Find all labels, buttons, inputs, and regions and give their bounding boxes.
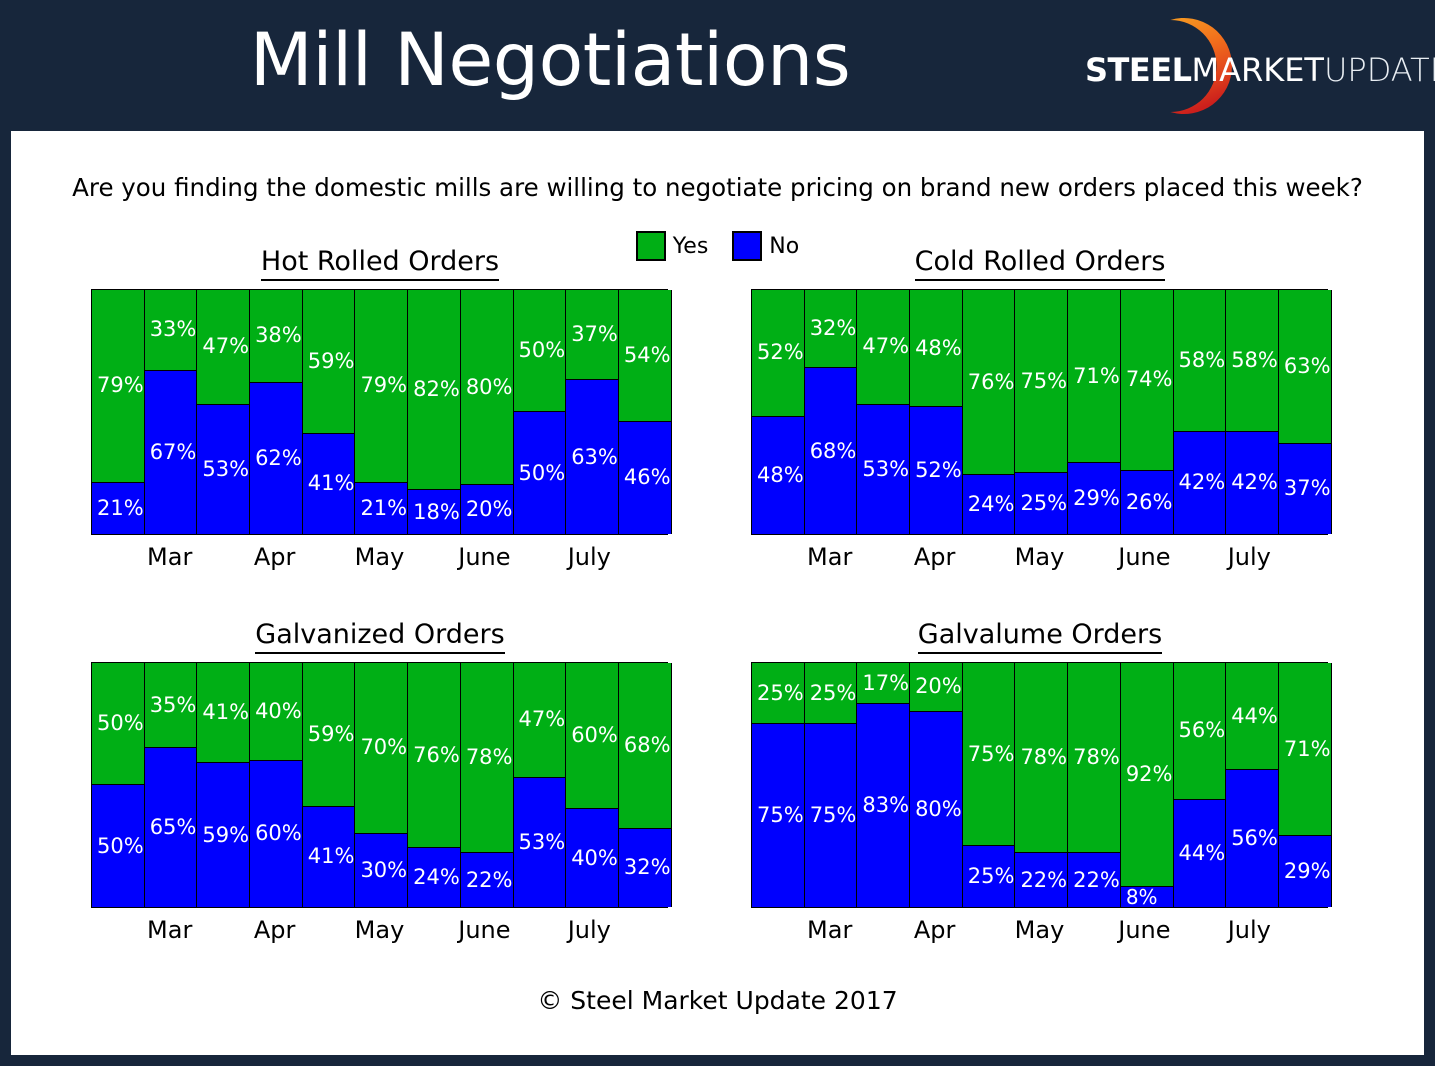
bar-segment-no: 75% xyxy=(805,724,857,907)
survey-question: Are you finding the domestic mills are w… xyxy=(11,173,1424,202)
stacked-bar: 33%67% xyxy=(144,290,198,534)
copyright-footer: © Steel Market Update 2017 xyxy=(11,986,1424,1015)
x-axis-tick-label: May xyxy=(1013,538,1065,578)
bar-value-label-yes: 54% xyxy=(619,345,671,366)
x-axis-tick-label xyxy=(406,538,458,578)
bar-segment-yes: 80% xyxy=(461,290,513,485)
x-axis-tick-label xyxy=(196,538,248,578)
stacked-bar: 35%65% xyxy=(144,663,198,907)
bar-value-label-yes: 20% xyxy=(910,676,962,697)
chart-galvalume-orders: Galvalume Orders 25%75%25%75%17%83%20%80… xyxy=(730,619,1350,919)
stacked-bar: 50%50% xyxy=(91,663,145,907)
x-axis-tick-label xyxy=(1276,538,1328,578)
bar-value-label-no: 37% xyxy=(1279,478,1331,499)
bar-segment-yes: 68% xyxy=(619,663,671,829)
bar-value-label-yes: 47% xyxy=(197,336,249,357)
bar-segment-no: 29% xyxy=(1068,463,1120,534)
stacked-bar: 68%32% xyxy=(618,663,672,907)
x-axis-tick-label xyxy=(1171,911,1223,951)
bar-value-label-no: 22% xyxy=(1015,870,1067,891)
x-axis-tick-label xyxy=(751,911,803,951)
x-axis-tick-label xyxy=(856,911,908,951)
chart-galvanized-orders: Galvanized Orders 50%50%35%65%41%59%40%6… xyxy=(70,619,690,919)
x-axis-tick-label xyxy=(751,538,803,578)
bar-value-label-yes: 59% xyxy=(303,724,355,745)
stacked-bar: 20%80% xyxy=(909,663,963,907)
stacked-bar: 58%42% xyxy=(1225,290,1279,534)
bar-segment-no: 68% xyxy=(805,368,857,534)
bar-value-label-yes: 76% xyxy=(408,745,460,766)
bar-segment-no: 65% xyxy=(145,748,197,907)
bar-segment-no: 60% xyxy=(250,761,302,907)
bar-segment-no: 53% xyxy=(197,405,249,534)
stacked-bar: 38%62% xyxy=(249,290,303,534)
x-axis-tick-label: June xyxy=(1118,538,1170,578)
bar-value-label-no: 48% xyxy=(752,465,804,486)
bar-segment-yes: 79% xyxy=(92,290,144,483)
x-axis-tick-label xyxy=(91,911,143,951)
x-axis-tick-label xyxy=(1171,538,1223,578)
x-axis-tick-label: Apr xyxy=(908,538,960,578)
bar-segment-yes: 35% xyxy=(145,663,197,748)
bar-segment-no: 32% xyxy=(619,829,671,907)
bar-value-label-no: 18% xyxy=(408,502,460,523)
bar-value-label-yes: 33% xyxy=(145,319,197,340)
chart-title: Hot Rolled Orders xyxy=(70,246,690,277)
bar-value-label-no: 22% xyxy=(461,870,513,891)
bar-value-label-yes: 78% xyxy=(1068,747,1120,768)
bar-value-label-no: 68% xyxy=(805,441,857,462)
chart-title: Cold Rolled Orders xyxy=(730,246,1350,277)
bar-value-label-no: 24% xyxy=(963,494,1015,515)
bar-segment-yes: 40% xyxy=(250,663,302,761)
bar-value-label-no: 62% xyxy=(250,448,302,469)
bar-segment-yes: 71% xyxy=(1279,663,1331,836)
chart-x-axis: MarAprMayJuneJuly xyxy=(751,538,1328,578)
bar-value-label-no: 8% xyxy=(1121,887,1158,907)
x-axis-tick-label xyxy=(511,911,563,951)
bar-value-label-no: 30% xyxy=(355,860,407,881)
chart-plot-area: 25%75%25%75%17%83%20%80%75%25%78%22%78%2… xyxy=(751,662,1328,908)
bar-segment-no: 42% xyxy=(1174,432,1226,534)
bar-segment-yes: 38% xyxy=(250,290,302,383)
stacked-bar: 58%42% xyxy=(1173,290,1227,534)
bar-segment-yes: 78% xyxy=(1015,663,1067,853)
bar-value-label-yes: 41% xyxy=(197,702,249,723)
bar-segment-yes: 50% xyxy=(92,663,144,785)
bar-value-label-yes: 92% xyxy=(1121,764,1173,785)
bar-segment-yes: 50% xyxy=(514,290,566,412)
bar-segment-yes: 59% xyxy=(303,663,355,807)
stacked-bar: 59%41% xyxy=(302,663,356,907)
bar-segment-yes: 78% xyxy=(1068,663,1120,853)
logo-word-update: UPDATE xyxy=(1324,51,1435,89)
bar-segment-no: 56% xyxy=(1226,770,1278,907)
bar-value-label-yes: 75% xyxy=(963,744,1015,765)
bar-value-label-yes: 50% xyxy=(514,340,566,361)
stacked-bar: 37%63% xyxy=(565,290,619,534)
stacked-bar: 41%59% xyxy=(196,663,250,907)
bar-value-label-yes: 75% xyxy=(1015,371,1067,392)
bar-value-label-yes: 82% xyxy=(408,379,460,400)
bar-segment-yes: 92% xyxy=(1121,663,1173,887)
bar-value-label-no: 80% xyxy=(910,799,962,820)
bar-value-label-no: 60% xyxy=(250,823,302,844)
stacked-bar: 79%21% xyxy=(354,290,408,534)
bar-segment-no: 24% xyxy=(408,848,460,907)
x-axis-tick-label xyxy=(301,911,353,951)
bar-segment-yes: 54% xyxy=(619,290,671,422)
stacked-bar: 71%29% xyxy=(1278,663,1332,907)
bar-segment-no: 22% xyxy=(1015,853,1067,907)
bar-segment-no: 63% xyxy=(566,380,618,534)
bar-value-label-no: 50% xyxy=(92,836,144,857)
bar-segment-yes: 82% xyxy=(408,290,460,490)
bar-segment-yes: 47% xyxy=(514,663,566,778)
bar-segment-yes: 47% xyxy=(197,290,249,405)
x-axis-tick-label: Apr xyxy=(908,911,960,951)
bar-segment-yes: 52% xyxy=(752,290,804,417)
bar-segment-yes: 20% xyxy=(910,663,962,712)
bar-segment-yes: 56% xyxy=(1174,663,1226,800)
bar-segment-no: 8% xyxy=(1121,887,1173,907)
bar-value-label-no: 63% xyxy=(566,447,618,468)
bar-segment-no: 41% xyxy=(303,807,355,907)
bar-value-label-no: 67% xyxy=(145,442,197,463)
x-axis-tick-label xyxy=(1066,538,1118,578)
stacked-bar: 40%60% xyxy=(249,663,303,907)
bar-value-label-yes: 44% xyxy=(1226,706,1278,727)
chart-title: Galvanized Orders xyxy=(70,619,690,650)
bar-segment-no: 53% xyxy=(857,405,909,534)
bar-value-label-no: 41% xyxy=(303,473,355,494)
stacked-bar: 54%46% xyxy=(618,290,672,534)
bar-value-label-yes: 40% xyxy=(250,701,302,722)
chart-hot-rolled-orders: Hot Rolled Orders 79%21%33%67%47%53%38%6… xyxy=(70,246,690,546)
stacked-bar: 92%8% xyxy=(1120,663,1174,907)
stacked-bar: 50%50% xyxy=(513,290,567,534)
bar-value-label-yes: 48% xyxy=(910,338,962,359)
x-axis-tick-label: May xyxy=(353,538,405,578)
page-title: Mill Negotiations xyxy=(0,0,1100,131)
bar-value-label-yes: 79% xyxy=(92,375,144,396)
bar-value-label-yes: 50% xyxy=(92,713,144,734)
bar-segment-no: 20% xyxy=(461,485,513,534)
bar-segment-no: 80% xyxy=(910,712,962,907)
bar-segment-no: 18% xyxy=(408,490,460,534)
bar-segment-yes: 58% xyxy=(1226,290,1278,432)
bar-value-label-yes: 79% xyxy=(355,375,407,396)
x-axis-tick-label: Mar xyxy=(143,538,195,578)
x-axis-tick-label xyxy=(511,538,563,578)
bar-value-label-no: 42% xyxy=(1174,472,1226,493)
slide-header: Mill Negotiations STEELMARKETUPDATE xyxy=(0,0,1435,131)
bar-segment-yes: 48% xyxy=(910,290,962,407)
steel-market-update-logo: STEELMARKETUPDATE xyxy=(1085,12,1430,120)
logo-wordmark: STEELMARKETUPDATE xyxy=(1085,50,1430,90)
bar-value-label-no: 25% xyxy=(963,866,1015,887)
x-axis-tick-label xyxy=(1066,911,1118,951)
bar-value-label-no: 29% xyxy=(1279,861,1331,882)
stacked-bar: 59%41% xyxy=(302,290,356,534)
bar-segment-yes: 75% xyxy=(1015,290,1067,473)
stacked-bar: 60%40% xyxy=(565,663,619,907)
bar-segment-no: 50% xyxy=(514,412,566,534)
bar-segment-no: 40% xyxy=(566,809,618,907)
bar-value-label-yes: 63% xyxy=(1279,356,1331,377)
bar-value-label-no: 29% xyxy=(1068,488,1120,509)
bar-value-label-no: 40% xyxy=(566,848,618,869)
x-axis-tick-label xyxy=(961,538,1013,578)
bar-segment-yes: 59% xyxy=(303,290,355,434)
bar-value-label-no: 59% xyxy=(197,825,249,846)
bar-value-label-yes: 80% xyxy=(461,377,513,398)
stacked-bar: 47%53% xyxy=(513,663,567,907)
bar-value-label-yes: 78% xyxy=(461,747,513,768)
bar-value-label-no: 52% xyxy=(910,460,962,481)
bar-segment-yes: 47% xyxy=(857,290,909,405)
bar-value-label-no: 65% xyxy=(145,817,197,838)
stacked-bar: 52%48% xyxy=(751,290,805,534)
stacked-bar: 56%44% xyxy=(1173,663,1227,907)
stacked-bar: 78%22% xyxy=(1014,663,1068,907)
x-axis-tick-label xyxy=(856,538,908,578)
bar-value-label-yes: 70% xyxy=(355,737,407,758)
x-axis-tick-label xyxy=(91,538,143,578)
stacked-bar: 76%24% xyxy=(962,290,1016,534)
bar-segment-no: 53% xyxy=(514,778,566,907)
stacked-bar: 75%25% xyxy=(962,663,1016,907)
bar-value-label-yes: 17% xyxy=(857,673,909,694)
bar-value-label-no: 56% xyxy=(1226,828,1278,849)
x-axis-tick-label: Mar xyxy=(803,911,855,951)
bar-value-label-no: 75% xyxy=(805,805,857,826)
bar-segment-no: 22% xyxy=(461,853,513,907)
bar-segment-no: 26% xyxy=(1121,471,1173,534)
bar-segment-no: 50% xyxy=(92,785,144,907)
bar-segment-yes: 63% xyxy=(1279,290,1331,444)
bar-segment-yes: 17% xyxy=(857,663,909,704)
x-axis-tick-label xyxy=(616,911,668,951)
bar-value-label-no: 32% xyxy=(619,857,671,878)
x-axis-tick-label: June xyxy=(458,538,510,578)
bar-value-label-yes: 25% xyxy=(752,683,804,704)
stacked-bar: 70%30% xyxy=(354,663,408,907)
bar-segment-no: 29% xyxy=(1279,836,1331,907)
logo-word-market: MARKET xyxy=(1191,51,1323,89)
bar-value-label-yes: 37% xyxy=(566,324,618,345)
bar-value-label-yes: 47% xyxy=(514,709,566,730)
bar-segment-yes: 60% xyxy=(566,663,618,809)
bar-segment-yes: 79% xyxy=(355,290,407,483)
bar-segment-no: 83% xyxy=(857,704,909,907)
stacked-bar: 25%75% xyxy=(751,663,805,907)
bar-value-label-no: 83% xyxy=(857,795,909,816)
bar-value-label-yes: 38% xyxy=(250,325,302,346)
x-axis-tick-label: Apr xyxy=(248,911,300,951)
bar-segment-no: 22% xyxy=(1068,853,1120,907)
stacked-bar: 76%24% xyxy=(407,663,461,907)
bar-value-label-no: 41% xyxy=(303,846,355,867)
stacked-bar: 75%25% xyxy=(1014,290,1068,534)
bar-value-label-yes: 52% xyxy=(752,342,804,363)
bar-value-label-yes: 74% xyxy=(1121,369,1173,390)
bar-segment-yes: 25% xyxy=(752,663,804,724)
stacked-bar: 79%21% xyxy=(91,290,145,534)
bar-segment-yes: 75% xyxy=(963,663,1015,846)
bar-value-label-yes: 56% xyxy=(1174,720,1226,741)
bar-value-label-yes: 47% xyxy=(857,336,909,357)
stacked-bar: 82%18% xyxy=(407,290,461,534)
bar-segment-yes: 58% xyxy=(1174,290,1226,432)
x-axis-tick-label: Apr xyxy=(248,538,300,578)
stacked-bar: 25%75% xyxy=(804,663,858,907)
bar-segment-no: 25% xyxy=(963,846,1015,907)
x-axis-tick-label: Mar xyxy=(803,538,855,578)
bar-segment-no: 62% xyxy=(250,383,302,534)
stacked-bar: 74%26% xyxy=(1120,290,1174,534)
x-axis-tick-label: July xyxy=(563,538,615,578)
stacked-bar: 78%22% xyxy=(460,663,514,907)
bar-value-label-yes: 59% xyxy=(303,351,355,372)
x-axis-tick-label xyxy=(196,911,248,951)
bar-value-label-no: 53% xyxy=(514,832,566,853)
bar-segment-yes: 76% xyxy=(408,663,460,848)
bar-segment-no: 59% xyxy=(197,763,249,907)
x-axis-tick-label: May xyxy=(1013,911,1065,951)
chart-x-axis: MarAprMayJuneJuly xyxy=(91,538,668,578)
bar-value-label-yes: 78% xyxy=(1015,747,1067,768)
bar-segment-yes: 25% xyxy=(805,663,857,724)
chart-x-axis: MarAprMayJuneJuly xyxy=(91,911,668,951)
bar-segment-no: 21% xyxy=(92,483,144,534)
bar-value-label-yes: 76% xyxy=(963,372,1015,393)
bar-segment-no: 44% xyxy=(1174,800,1226,907)
chart-cold-rolled-orders: Cold Rolled Orders 52%48%32%68%47%53%48%… xyxy=(730,246,1350,546)
bar-segment-no: 75% xyxy=(752,724,804,907)
stacked-bar: 78%22% xyxy=(1067,663,1121,907)
chart-x-axis: MarAprMayJuneJuly xyxy=(751,911,1328,951)
bar-segment-yes: 74% xyxy=(1121,290,1173,471)
bar-value-label-no: 20% xyxy=(461,499,513,520)
bar-value-label-yes: 58% xyxy=(1226,350,1278,371)
stacked-bar: 48%52% xyxy=(909,290,963,534)
bar-segment-yes: 76% xyxy=(963,290,1015,475)
bar-value-label-no: 21% xyxy=(355,498,407,519)
stacked-bar: 71%29% xyxy=(1067,290,1121,534)
bar-segment-no: 48% xyxy=(752,417,804,534)
bar-value-label-no: 22% xyxy=(1068,870,1120,891)
bar-segment-no: 37% xyxy=(1279,444,1331,534)
bar-value-label-yes: 71% xyxy=(1068,366,1120,387)
bar-segment-no: 42% xyxy=(1226,432,1278,534)
bar-value-label-no: 46% xyxy=(619,467,671,488)
x-axis-tick-label xyxy=(616,538,668,578)
stacked-bar: 80%20% xyxy=(460,290,514,534)
bar-value-label-yes: 32% xyxy=(805,318,857,339)
slide-root: Mill Negotiations STEELMARKETUPDATE Are xyxy=(0,0,1435,1066)
bar-value-label-no: 53% xyxy=(857,459,909,480)
bar-value-label-yes: 60% xyxy=(566,725,618,746)
chart-title: Galvalume Orders xyxy=(730,619,1350,650)
chart-plot-area: 52%48%32%68%47%53%48%52%76%24%75%25%71%2… xyxy=(751,289,1328,535)
bar-segment-no: 52% xyxy=(910,407,962,534)
x-axis-tick-label: June xyxy=(1118,911,1170,951)
chart-plot-area: 79%21%33%67%47%53%38%62%59%41%79%21%82%1… xyxy=(91,289,668,535)
bar-value-label-yes: 35% xyxy=(145,695,197,716)
bar-segment-yes: 78% xyxy=(461,663,513,853)
stacked-bar: 47%53% xyxy=(856,290,910,534)
bar-segment-no: 24% xyxy=(963,475,1015,534)
x-axis-tick-label xyxy=(961,911,1013,951)
stacked-bar: 44%56% xyxy=(1225,663,1279,907)
bar-value-label-no: 25% xyxy=(1015,493,1067,514)
x-axis-tick-label: July xyxy=(1223,911,1275,951)
bar-segment-yes: 37% xyxy=(566,290,618,380)
bar-value-label-no: 26% xyxy=(1121,492,1173,513)
bar-value-label-yes: 58% xyxy=(1174,350,1226,371)
bar-segment-yes: 41% xyxy=(197,663,249,763)
stacked-bar: 63%37% xyxy=(1278,290,1332,534)
logo-word-steel: STEEL xyxy=(1085,51,1191,89)
bar-segment-no: 67% xyxy=(145,371,197,534)
stacked-bar: 32%68% xyxy=(804,290,858,534)
bar-value-label-no: 44% xyxy=(1174,843,1226,864)
stacked-bar: 17%83% xyxy=(856,663,910,907)
bar-value-label-no: 50% xyxy=(514,463,566,484)
bar-segment-no: 21% xyxy=(355,483,407,534)
x-axis-tick-label xyxy=(301,538,353,578)
bar-segment-no: 30% xyxy=(355,834,407,907)
x-axis-tick-label: July xyxy=(563,911,615,951)
x-axis-tick-label: July xyxy=(1223,538,1275,578)
bar-value-label-yes: 25% xyxy=(805,683,857,704)
bar-value-label-no: 53% xyxy=(197,459,249,480)
bar-segment-yes: 32% xyxy=(805,290,857,368)
x-axis-tick-label: June xyxy=(458,911,510,951)
chart-plot-area: 50%50%35%65%41%59%40%60%59%41%70%30%76%2… xyxy=(91,662,668,908)
bar-segment-no: 46% xyxy=(619,422,671,534)
bar-value-label-no: 24% xyxy=(408,867,460,888)
stacked-bar: 47%53% xyxy=(196,290,250,534)
x-axis-tick-label: May xyxy=(353,911,405,951)
bar-segment-no: 25% xyxy=(1015,473,1067,534)
bar-value-label-no: 21% xyxy=(92,498,144,519)
bar-value-label-no: 75% xyxy=(752,805,804,826)
x-axis-tick-label xyxy=(1276,911,1328,951)
bar-segment-yes: 33% xyxy=(145,290,197,371)
x-axis-tick-label: Mar xyxy=(143,911,195,951)
bar-value-label-yes: 68% xyxy=(619,735,671,756)
bar-value-label-no: 42% xyxy=(1226,472,1278,493)
bar-segment-yes: 71% xyxy=(1068,290,1120,463)
slide-body: Are you finding the domestic mills are w… xyxy=(11,131,1424,1055)
bar-segment-no: 41% xyxy=(303,434,355,534)
x-axis-tick-label xyxy=(406,911,458,951)
bar-segment-yes: 70% xyxy=(355,663,407,834)
bar-value-label-yes: 71% xyxy=(1279,739,1331,760)
bar-segment-yes: 44% xyxy=(1226,663,1278,770)
